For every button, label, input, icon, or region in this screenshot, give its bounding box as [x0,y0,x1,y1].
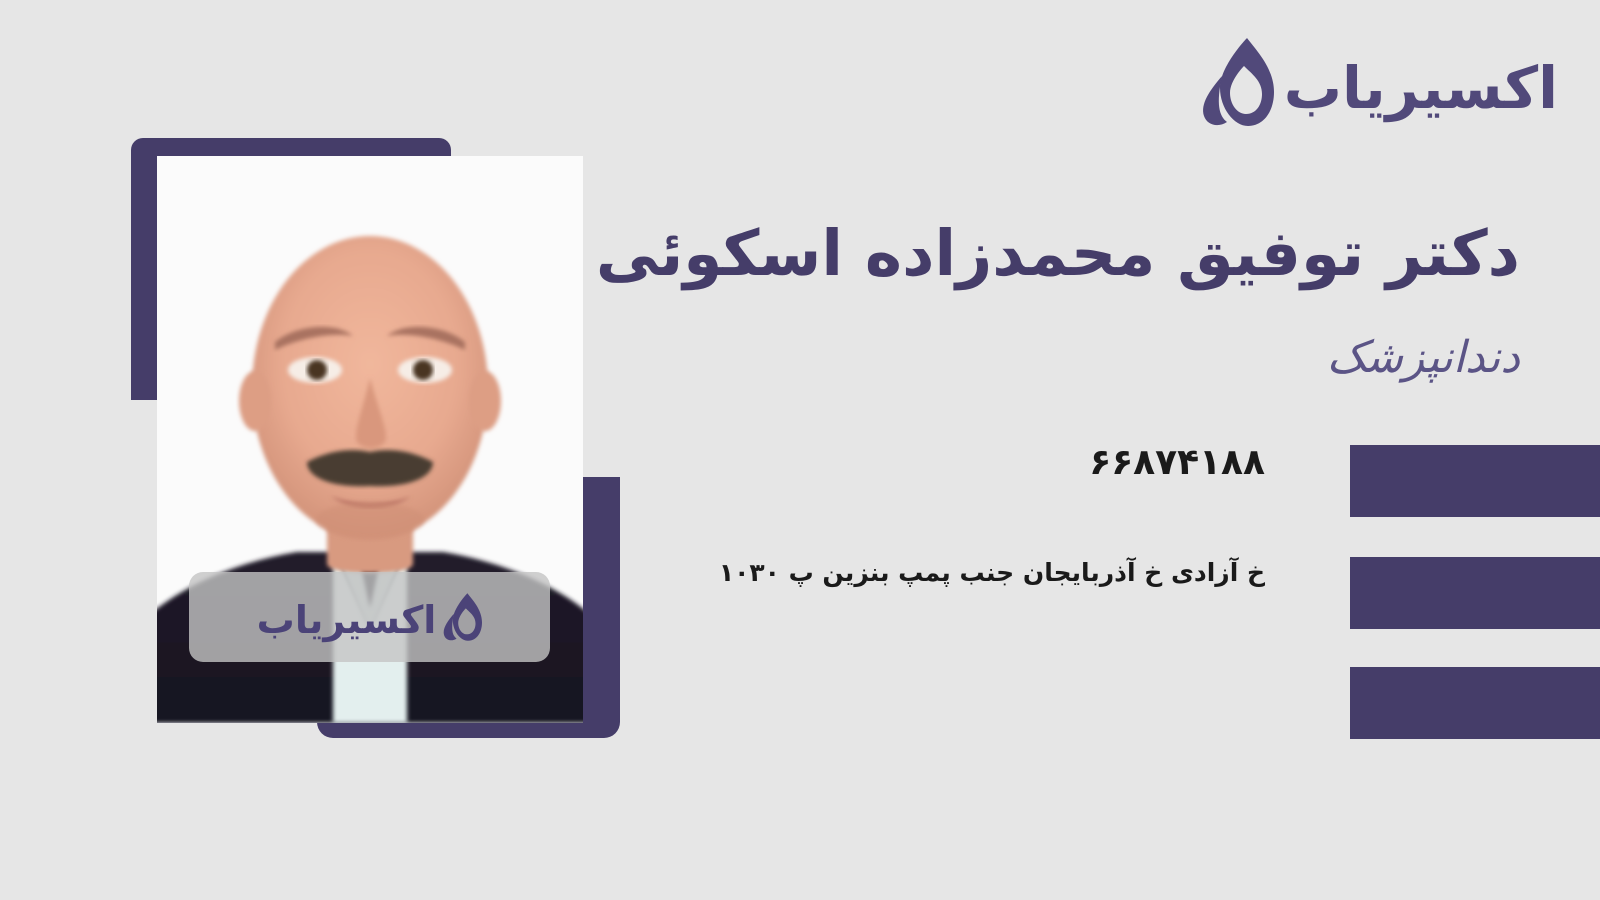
doctor-profile-card: اکسیریاب [0,0,1600,900]
decorative-bar-1 [1350,445,1600,517]
doctor-address: خ آزادی خ آذربایجان جنب پمپ بنزین پ ۱۰۳۰ [719,558,1265,587]
decorative-bar-3 [1350,667,1600,739]
watermark-label: اکسیریاب [257,598,437,642]
photo-watermark: اکسیریاب [189,572,550,662]
decorative-bars [1340,0,1600,900]
doctor-phone[interactable]: ۶۶۸۷۴۱۸۸ [1089,442,1265,483]
decorative-bar-2 [1350,557,1600,629]
flame-droplet-icon [442,590,482,644]
